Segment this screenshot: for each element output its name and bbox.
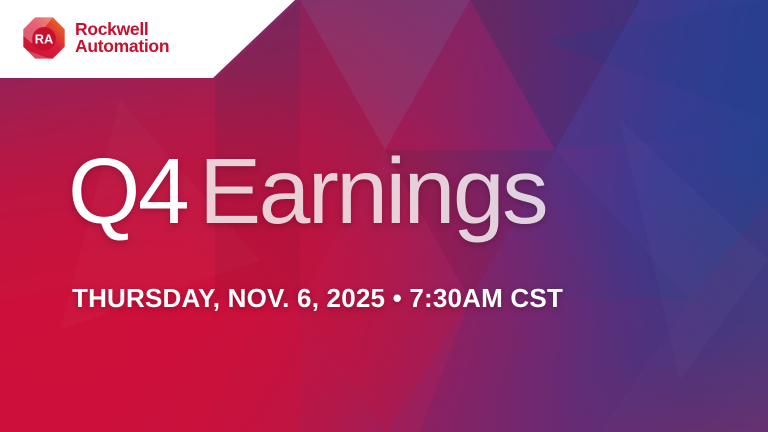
rockwell-automation-logo[interactable]: RA Rockwell Automation (22, 16, 169, 60)
svg-text:RA: RA (35, 31, 53, 46)
event-datetime: THURSDAY, NOV. 6, 2025 • 7:30AM CST (72, 283, 563, 314)
title-quarter: Q4 (68, 139, 187, 243)
logo-wordmark: Rockwell Automation (75, 21, 169, 56)
page-title: Q4Earnings (68, 141, 546, 241)
logo-wordmark-line2: Automation (75, 38, 169, 56)
earnings-announcement-banner: RA Rockwell Automation Q4Earnings THURSD… (0, 0, 768, 432)
title-earnings: Earnings (199, 139, 546, 243)
rockwell-automation-octagon-ra-icon: RA (22, 16, 66, 60)
